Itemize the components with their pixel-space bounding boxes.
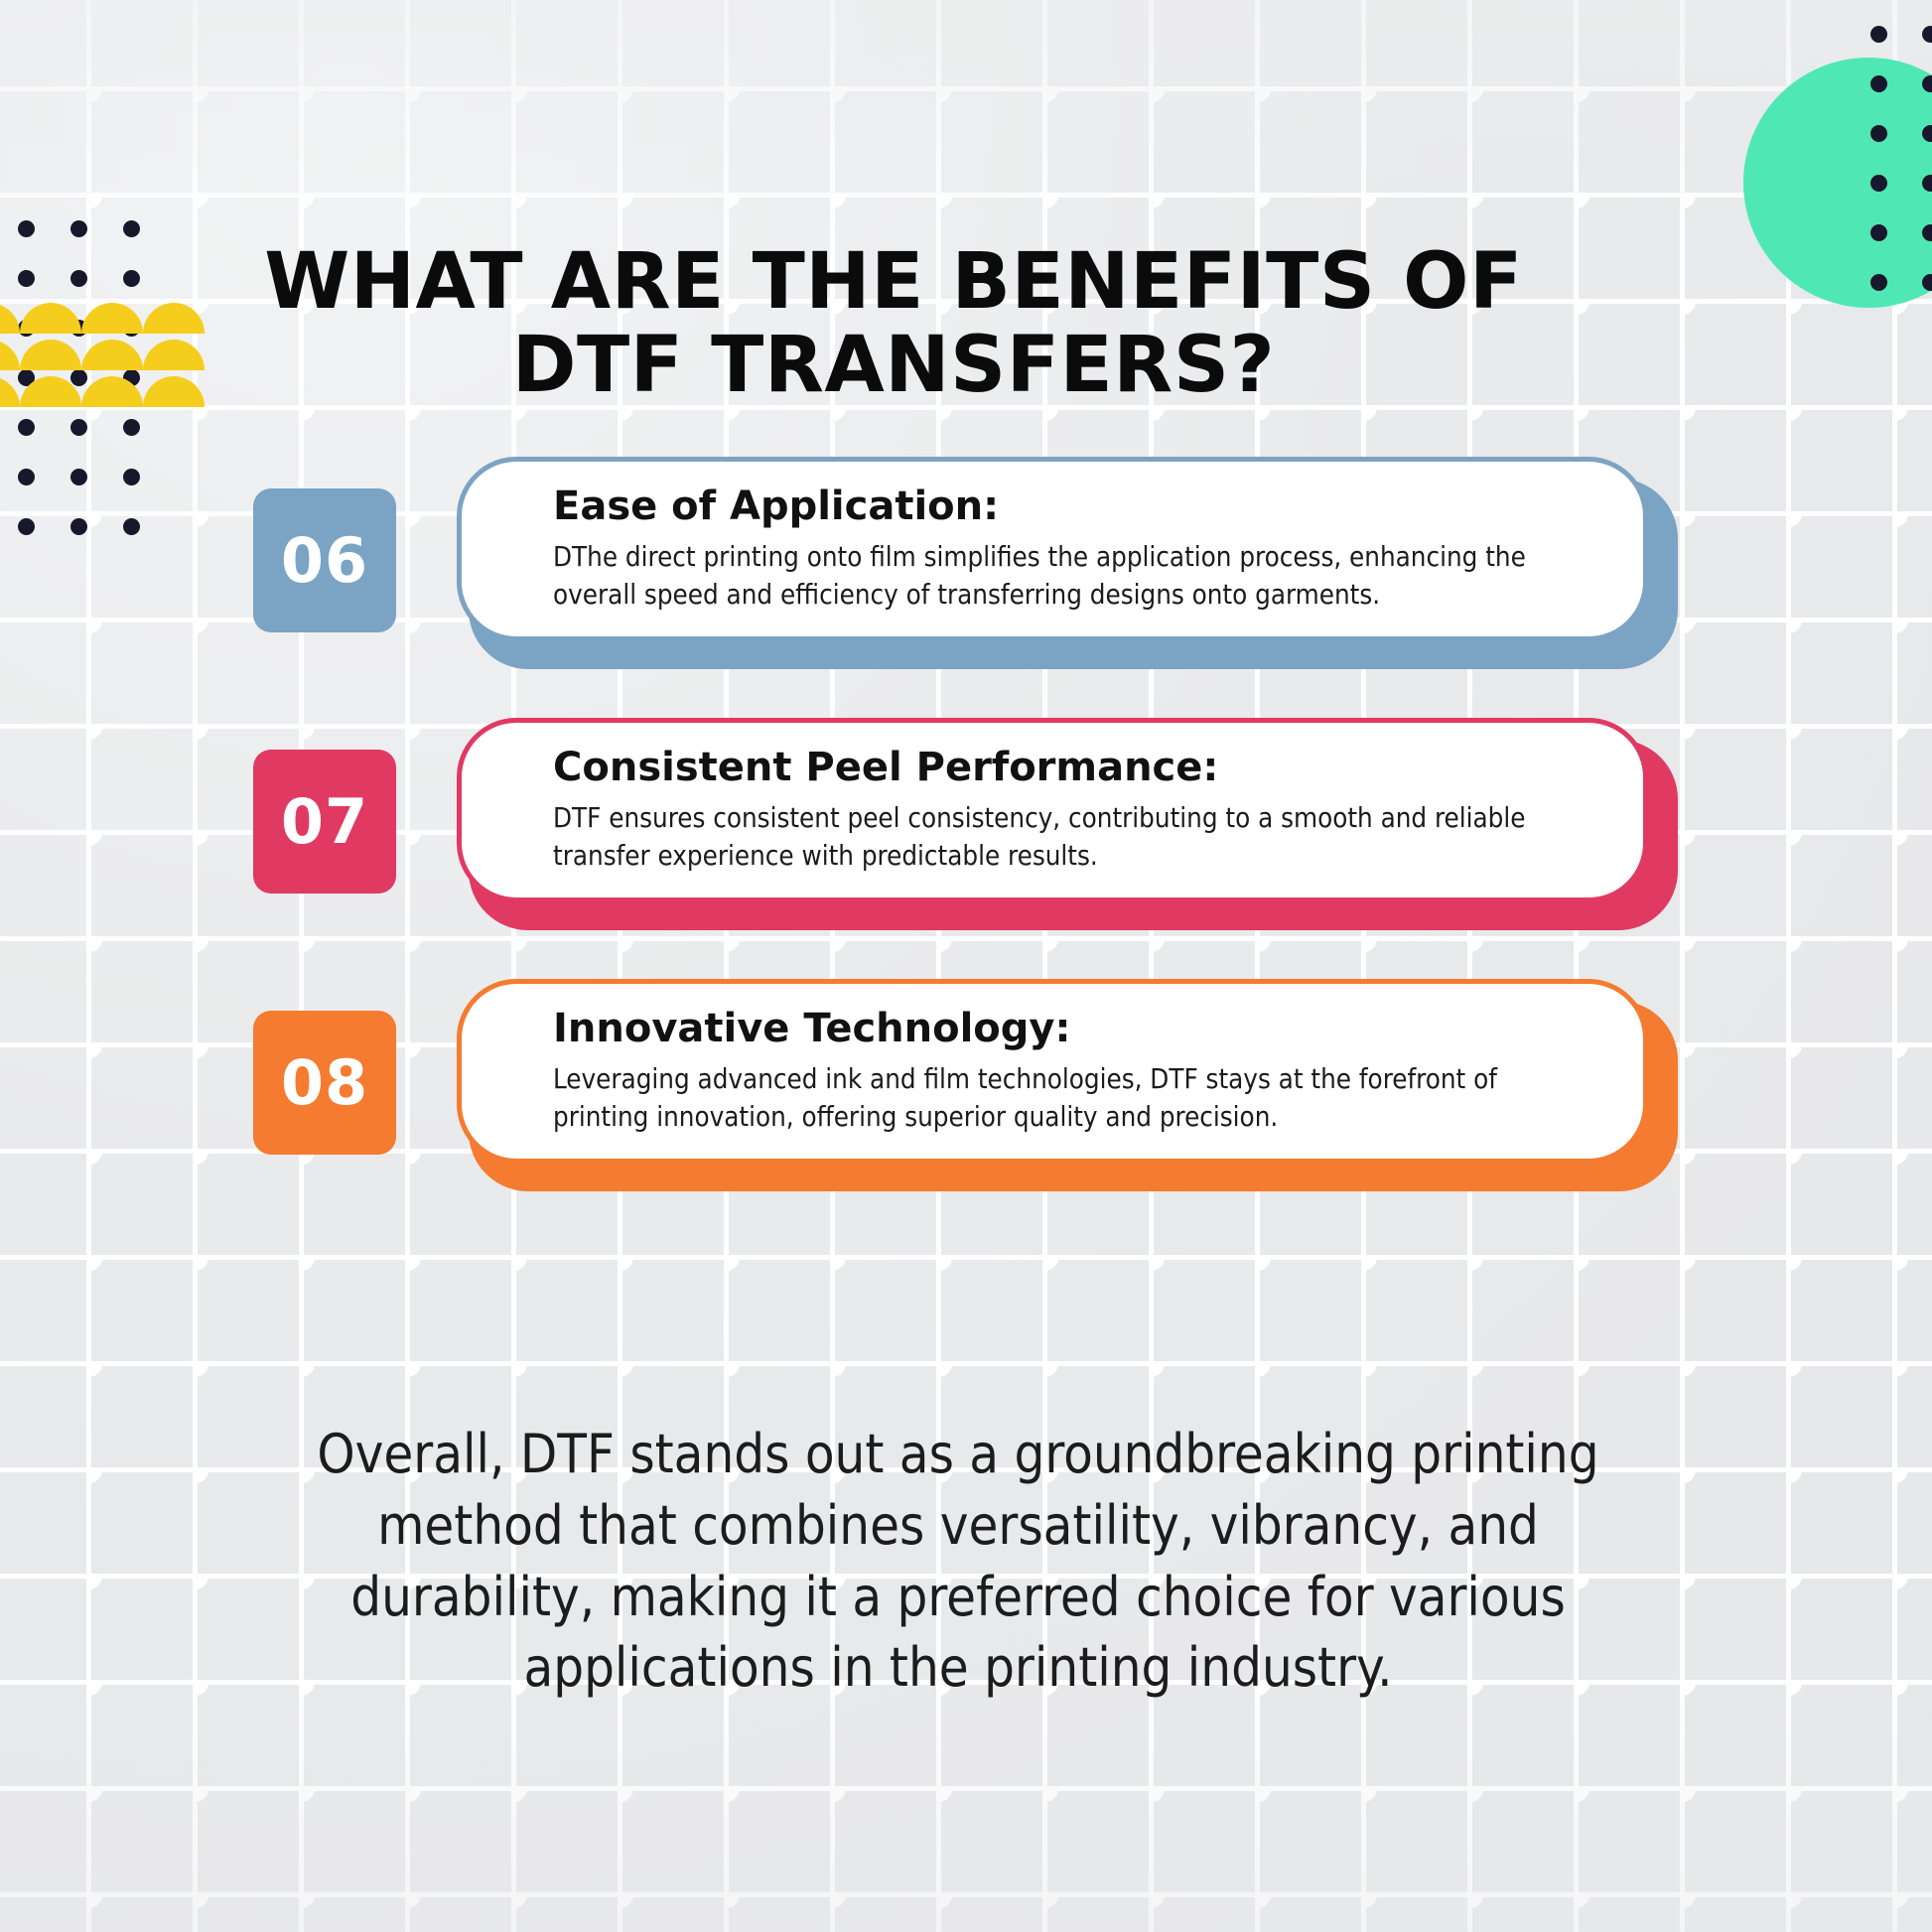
decorative-dot <box>18 270 35 287</box>
yellow-semicircle <box>143 303 205 334</box>
card-title: Innovative Technology: <box>553 1006 1597 1051</box>
decorative-dot <box>1922 175 1932 192</box>
benefit-card: Innovative Technology:Leveraging advance… <box>0 974 1932 1182</box>
decorative-dot <box>1922 26 1932 43</box>
yellow-semicircle <box>143 376 205 407</box>
yellow-semicircle <box>20 303 81 334</box>
yellow-semicircle <box>143 340 205 370</box>
decorative-dot <box>123 270 140 287</box>
decorative-dot <box>1922 75 1932 92</box>
benefit-card: Ease of Application:DThe direct printing… <box>0 452 1932 660</box>
decorative-dot <box>1922 274 1932 291</box>
yellow-semicircle <box>81 376 143 407</box>
benefit-card: Consistent Peel Performance:DTF ensures … <box>0 713 1932 921</box>
decorative-dot <box>1870 125 1887 142</box>
card-panel: Consistent Peel Performance:DTF ensures … <box>457 718 1648 902</box>
card-number-badge: 07 <box>253 750 396 894</box>
yellow-semicircle-pattern <box>0 303 207 422</box>
card-body-text: DTF ensures consistent peel consistency,… <box>553 800 1597 876</box>
decorative-dot <box>1870 274 1887 291</box>
yellow-semicircle <box>0 303 20 334</box>
teal-circle-decoration <box>1743 58 1932 308</box>
card-panel: Innovative Technology:Leveraging advance… <box>457 979 1648 1164</box>
yellow-semicircle <box>0 376 20 407</box>
decorative-dot <box>1922 125 1932 142</box>
benefit-card-list: Ease of Application:DThe direct printing… <box>0 452 1932 1235</box>
yellow-semicircle <box>20 376 81 407</box>
decorative-dot <box>1922 224 1932 241</box>
card-number-badge: 06 <box>253 488 396 632</box>
card-title: Consistent Peel Performance: <box>553 745 1597 790</box>
yellow-semicircle <box>0 340 20 370</box>
decorative-dot <box>70 270 87 287</box>
decorative-dot <box>1870 224 1887 241</box>
card-number-badge: 08 <box>253 1011 396 1155</box>
decorative-dot <box>1870 26 1887 43</box>
infographic-poster: What Are The Benefits Of DTF Transfers? … <box>0 0 1932 1932</box>
yellow-semicircle <box>81 303 143 334</box>
card-body-text: Leveraging advanced ink and film technol… <box>553 1061 1597 1137</box>
card-title: Ease of Application: <box>553 483 1597 529</box>
yellow-semicircle <box>81 340 143 370</box>
card-panel: Ease of Application:DThe direct printing… <box>457 457 1648 641</box>
decorative-dot <box>123 220 140 237</box>
decorative-dot <box>1870 75 1887 92</box>
yellow-semicircle <box>20 340 81 370</box>
decorative-dot <box>1870 175 1887 192</box>
page-title: What Are The Benefits Of DTF Transfers? <box>199 240 1588 407</box>
closing-paragraph: Overall, DTF stands out as a groundbreak… <box>253 1419 1663 1704</box>
decorative-dot <box>70 220 87 237</box>
card-body-text: DThe direct printing onto film simplifie… <box>553 539 1597 615</box>
decorative-dot <box>18 220 35 237</box>
